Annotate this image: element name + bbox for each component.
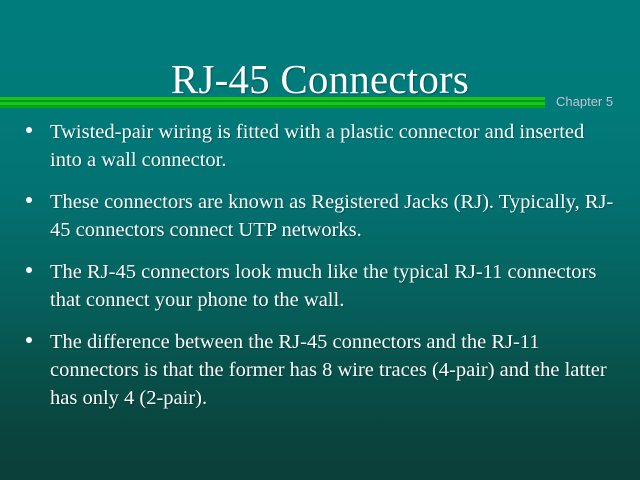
list-item: Twisted-pair wiring is fitted with a pla… — [0, 118, 640, 174]
bullet-list: Twisted-pair wiring is fitted with a pla… — [0, 118, 640, 426]
title-area: RJ-45 Connectors — [0, 28, 640, 131]
bullet-dot-icon — [26, 197, 32, 203]
list-item: The difference between the RJ-45 connect… — [0, 328, 640, 412]
bullet-dot-icon — [26, 337, 32, 343]
list-item-text: The difference between the RJ-45 connect… — [50, 328, 618, 412]
list-item-text: The RJ-45 connectors look much like the … — [50, 258, 618, 314]
title-divider-bar — [0, 97, 545, 108]
bullet-dot-icon — [26, 127, 32, 133]
list-item: The RJ-45 connectors look much like the … — [0, 258, 640, 314]
list-item-text: Twisted-pair wiring is fitted with a pla… — [50, 118, 618, 174]
bullet-dot-icon — [26, 267, 32, 273]
presentation-slide: RJ-45 Connectors Chapter 5 Twisted-pair … — [0, 0, 640, 480]
divider-stripe-bottom — [0, 105, 545, 108]
list-item-text: These connectors are known as Registered… — [50, 188, 618, 244]
chapter-label: Chapter 5 — [556, 93, 613, 111]
list-item: These connectors are known as Registered… — [0, 188, 640, 244]
